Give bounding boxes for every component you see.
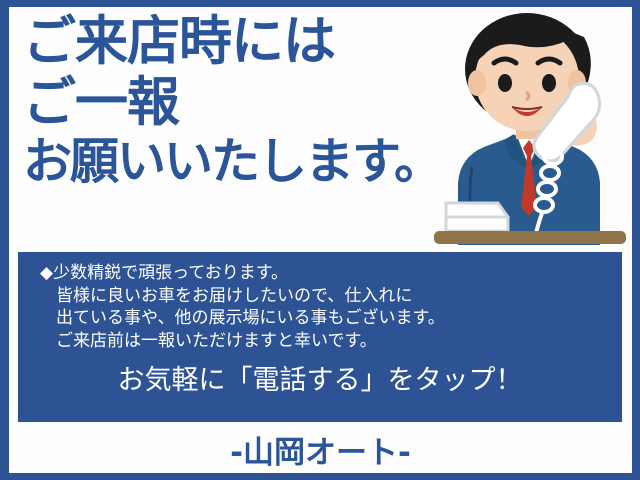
call-to-action-text: お気軽に「電話する」をタップ！ — [18, 358, 622, 397]
desk-shape — [434, 231, 626, 244]
headline-block: ご来店時には ご一報 お願いいたします。 — [23, 15, 463, 186]
message-bullet-list: ◆少数精鋭で頑張っております。 皆様に良いお車をお届けしたいので、仕入れに 出て… — [18, 262, 622, 352]
shop-name: -山岡オート- — [9, 427, 632, 472]
promo-banner: ご来店時には ご一報 お願いいたします。 — [0, 0, 640, 480]
message-line-1: ◆少数精鋭で頑張っております。 — [40, 262, 622, 285]
left-ear-shape — [468, 70, 486, 96]
right-eye-shape — [542, 74, 556, 92]
headline-line-2: ご一報 — [23, 76, 463, 129]
message-line-3: 出ている事や、他の展示場にいる事もございます。 — [40, 307, 622, 330]
headline-line-3: お願いいたします。 — [23, 137, 463, 186]
left-eye-shape — [498, 74, 512, 92]
message-line-2: 皆様に良いお車をお届けしたいので、仕入れに — [40, 285, 622, 308]
headline-line-1: ご来店時には — [23, 15, 463, 68]
banner-inner-area: ご来店時には ご一報 お願いいたします。 — [9, 7, 632, 473]
message-panel: ◆少数精鋭で頑張っております。 皆様に良いお車をお届けしたいので、仕入れに 出て… — [18, 252, 622, 422]
message-line-4: ご来店前は一報いただけますと幸いです。 — [40, 330, 622, 353]
